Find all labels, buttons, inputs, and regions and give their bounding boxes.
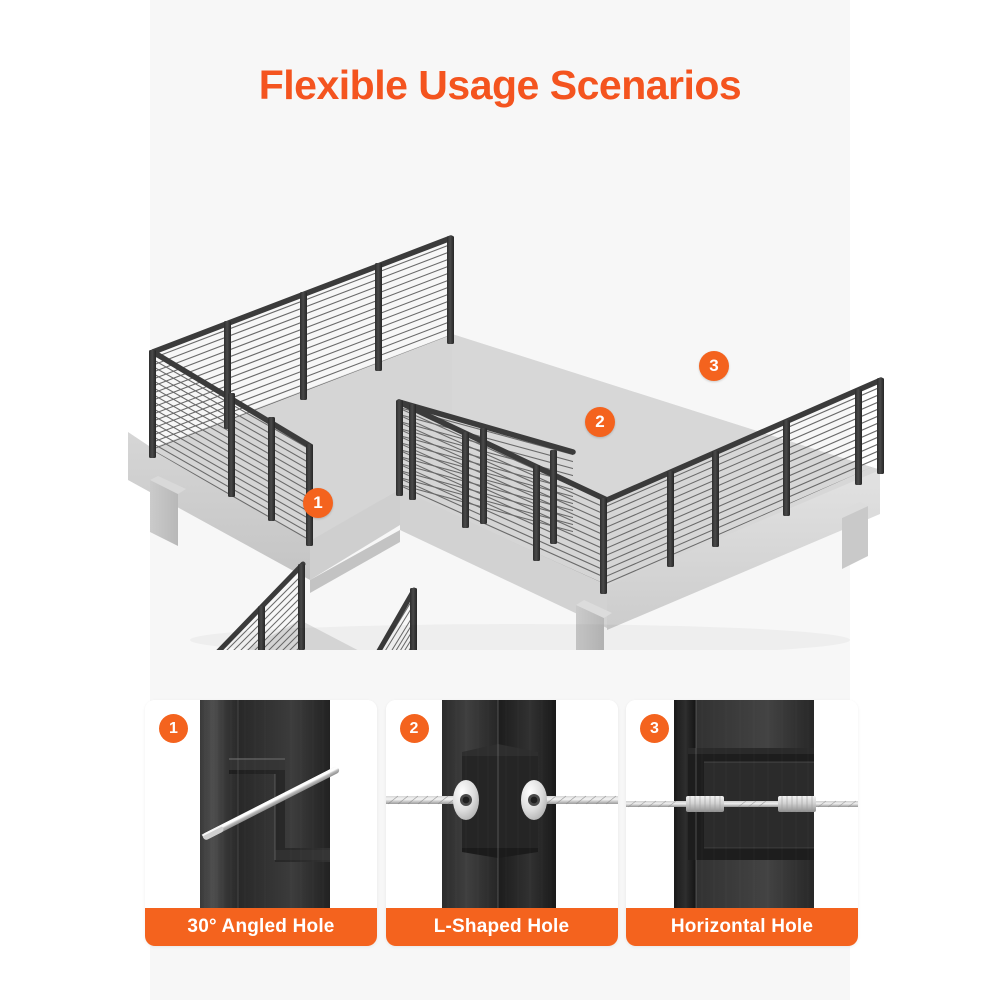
panel-2-badge: 2 [400, 714, 429, 743]
panel-1-caption: 30° Angled Hole [145, 908, 377, 946]
feature-panel-row: 1 30° Angled Hole [145, 700, 858, 946]
panel-3-badge: 3 [640, 714, 669, 743]
hero-illustration [0, 180, 1000, 650]
hero-marker-1[interactable]: 1 [303, 488, 333, 518]
panel-l-shaped-hole[interactable]: 2 L-Shaped Hole [386, 700, 618, 946]
hero-marker-3[interactable]: 3 [699, 351, 729, 381]
page-title: Flexible Usage Scenarios [0, 62, 1000, 109]
panel-3-caption: Horizontal Hole [626, 908, 858, 946]
panel-2-caption: L-Shaped Hole [386, 908, 618, 946]
hero-marker-2[interactable]: 2 [585, 407, 615, 437]
panel-angled-hole[interactable]: 1 30° Angled Hole [145, 700, 377, 946]
panel-1-badge: 1 [159, 714, 188, 743]
panel-horizontal-hole[interactable]: 3 Horizontal Hole [626, 700, 858, 946]
